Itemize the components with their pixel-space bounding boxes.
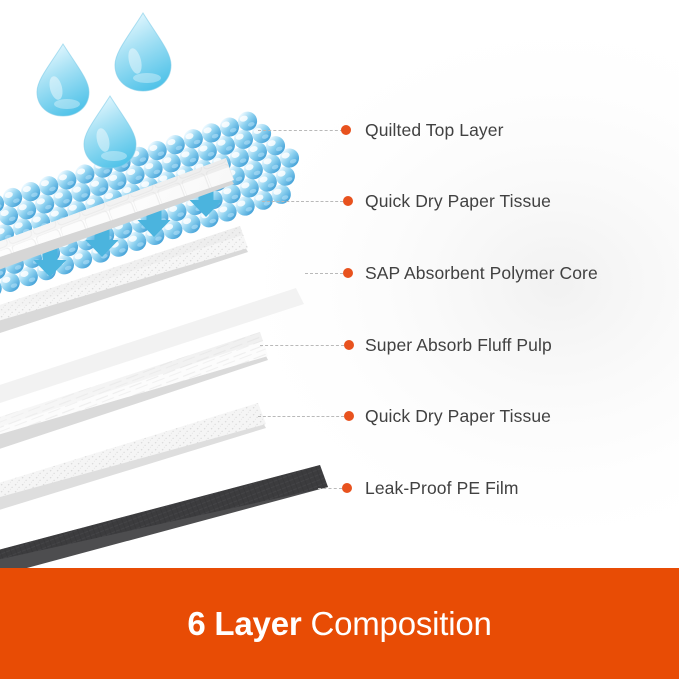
callout-dot-quick-dry-paper-tissue-lower [344,411,354,421]
leader-line-quick-dry-paper-tissue-lower [258,416,344,417]
leader-line-quilted-top-layer [258,130,343,131]
callout-label-sap-absorbent-polymer-core: SAP Absorbent Polymer Core [365,263,598,284]
leader-line-quick-dry-paper-tissue-upper [262,201,343,202]
callout-label-leak-proof-pe-film: Leak-Proof PE Film [365,478,519,499]
callout-label-quick-dry-paper-tissue-lower: Quick Dry Paper Tissue [365,406,551,427]
callout-dot-quilted-top-layer [341,125,351,135]
layer-stack-illustration [0,0,679,568]
leader-line-sap-absorbent-polymer-core [305,273,343,274]
product-layer-infographic: ASPCA® [0,0,679,679]
callout-dot-sap-absorbent-polymer-core [343,268,353,278]
banner-caption-regular: Composition [310,605,491,642]
leader-line-super-absorb-fluff-pulp [260,345,344,346]
leader-line-leak-proof-pe-film [318,488,342,489]
callout-dot-quick-dry-paper-tissue-upper [343,196,353,206]
composition-banner: 6 Layer Composition [0,568,679,679]
callout-dot-leak-proof-pe-film [342,483,352,493]
banner-caption-bold: 6 Layer [187,605,301,642]
callout-label-super-absorb-fluff-pulp: Super Absorb Fluff Pulp [365,335,552,356]
callout-dot-super-absorb-fluff-pulp [344,340,354,350]
banner-caption: 6 Layer Composition [187,605,491,643]
callout-label-quilted-top-layer: Quilted Top Layer [365,120,504,141]
callout-label-quick-dry-paper-tissue-upper: Quick Dry Paper Tissue [365,191,551,212]
